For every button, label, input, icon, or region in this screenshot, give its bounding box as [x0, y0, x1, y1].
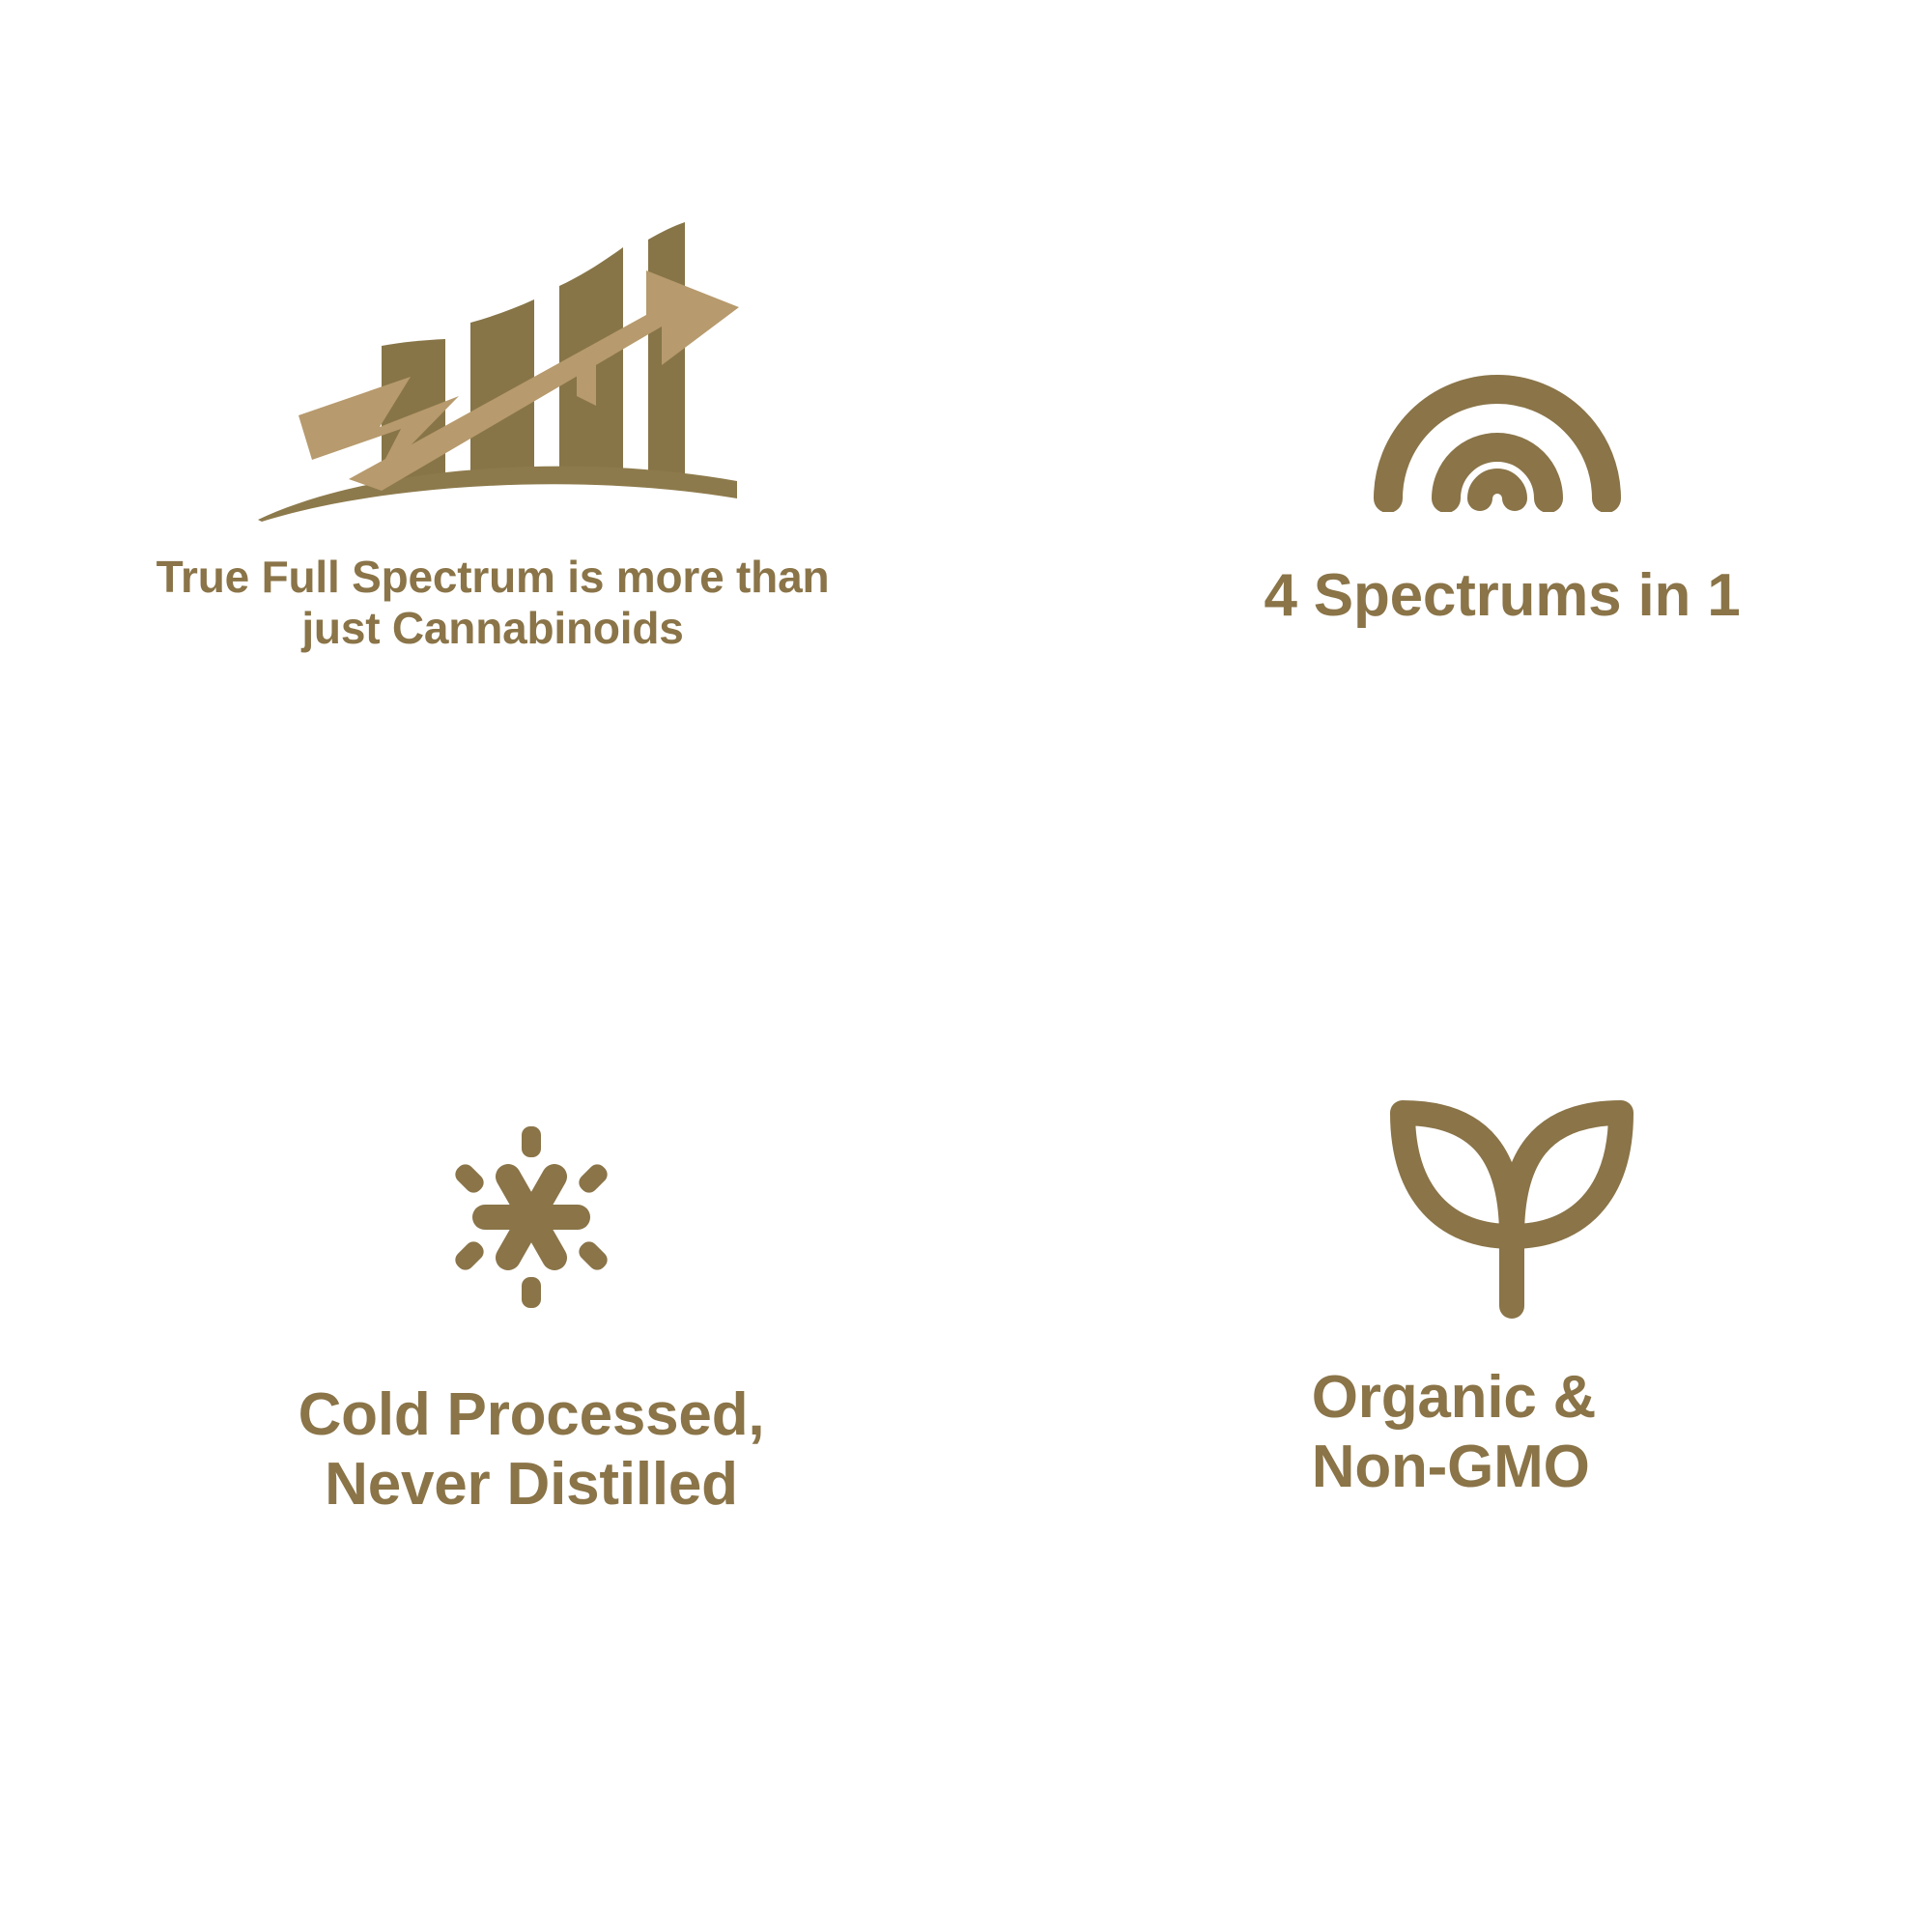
rainbow-arcs-icon [1367, 367, 1628, 517]
feature-card-organic-non-gmo: Organic & Non-GMO [966, 966, 1932, 1932]
feature-label-true-full-spectrum: True Full Spectrum is more than just Can… [156, 552, 830, 655]
feature-card-cold-processed: Cold Processed, Never Distilled [0, 966, 966, 1932]
feature-label-four-spectrums: 4 Spectrums in 1 [1264, 561, 1741, 631]
feature-badge-grid: True Full Spectrum is more than just Can… [0, 0, 1932, 1932]
sprout-leaves-icon [1381, 1092, 1642, 1328]
snowflake-sun-burst-icon [435, 1121, 628, 1319]
growth-bar-chart-arrow-icon [256, 222, 739, 526]
feature-card-four-spectrums: 4 Spectrums in 1 [966, 0, 1932, 966]
feature-label-cold-processed: Cold Processed, Never Distilled [298, 1380, 765, 1520]
feature-card-true-full-spectrum: True Full Spectrum is more than just Can… [0, 0, 966, 966]
feature-label-organic-non-gmo: Organic & Non-GMO [1312, 1363, 1597, 1502]
